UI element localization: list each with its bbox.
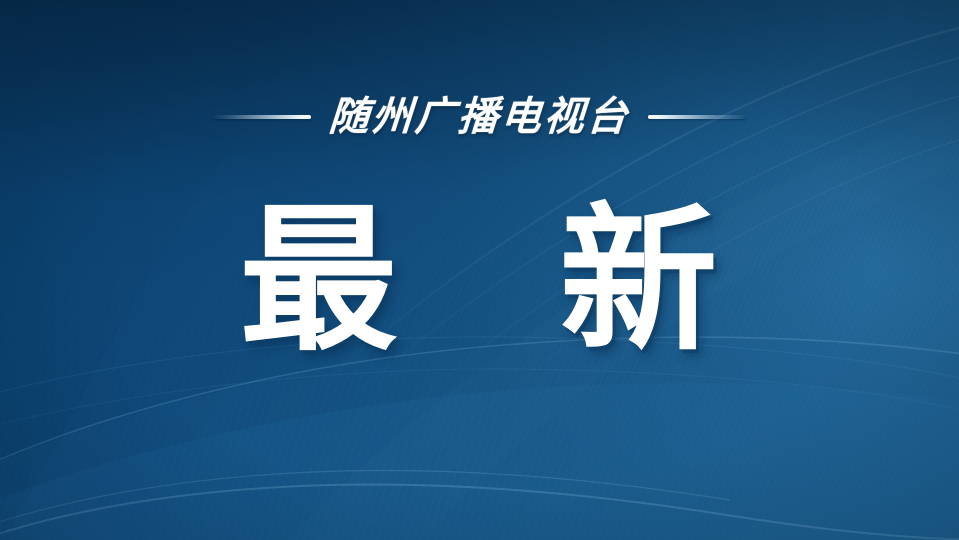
decorative-rule-left: [213, 115, 311, 119]
station-name-label: 随州广播电视台: [328, 97, 632, 137]
headline-text: 最 新: [0, 196, 959, 366]
decorative-rule-right: [648, 115, 746, 119]
station-header: 随州广播电视台: [0, 88, 959, 146]
title-card-slide: 随州广播电视台 最 新: [0, 0, 959, 540]
wave-bottom-ribbon: [0, 470, 959, 540]
